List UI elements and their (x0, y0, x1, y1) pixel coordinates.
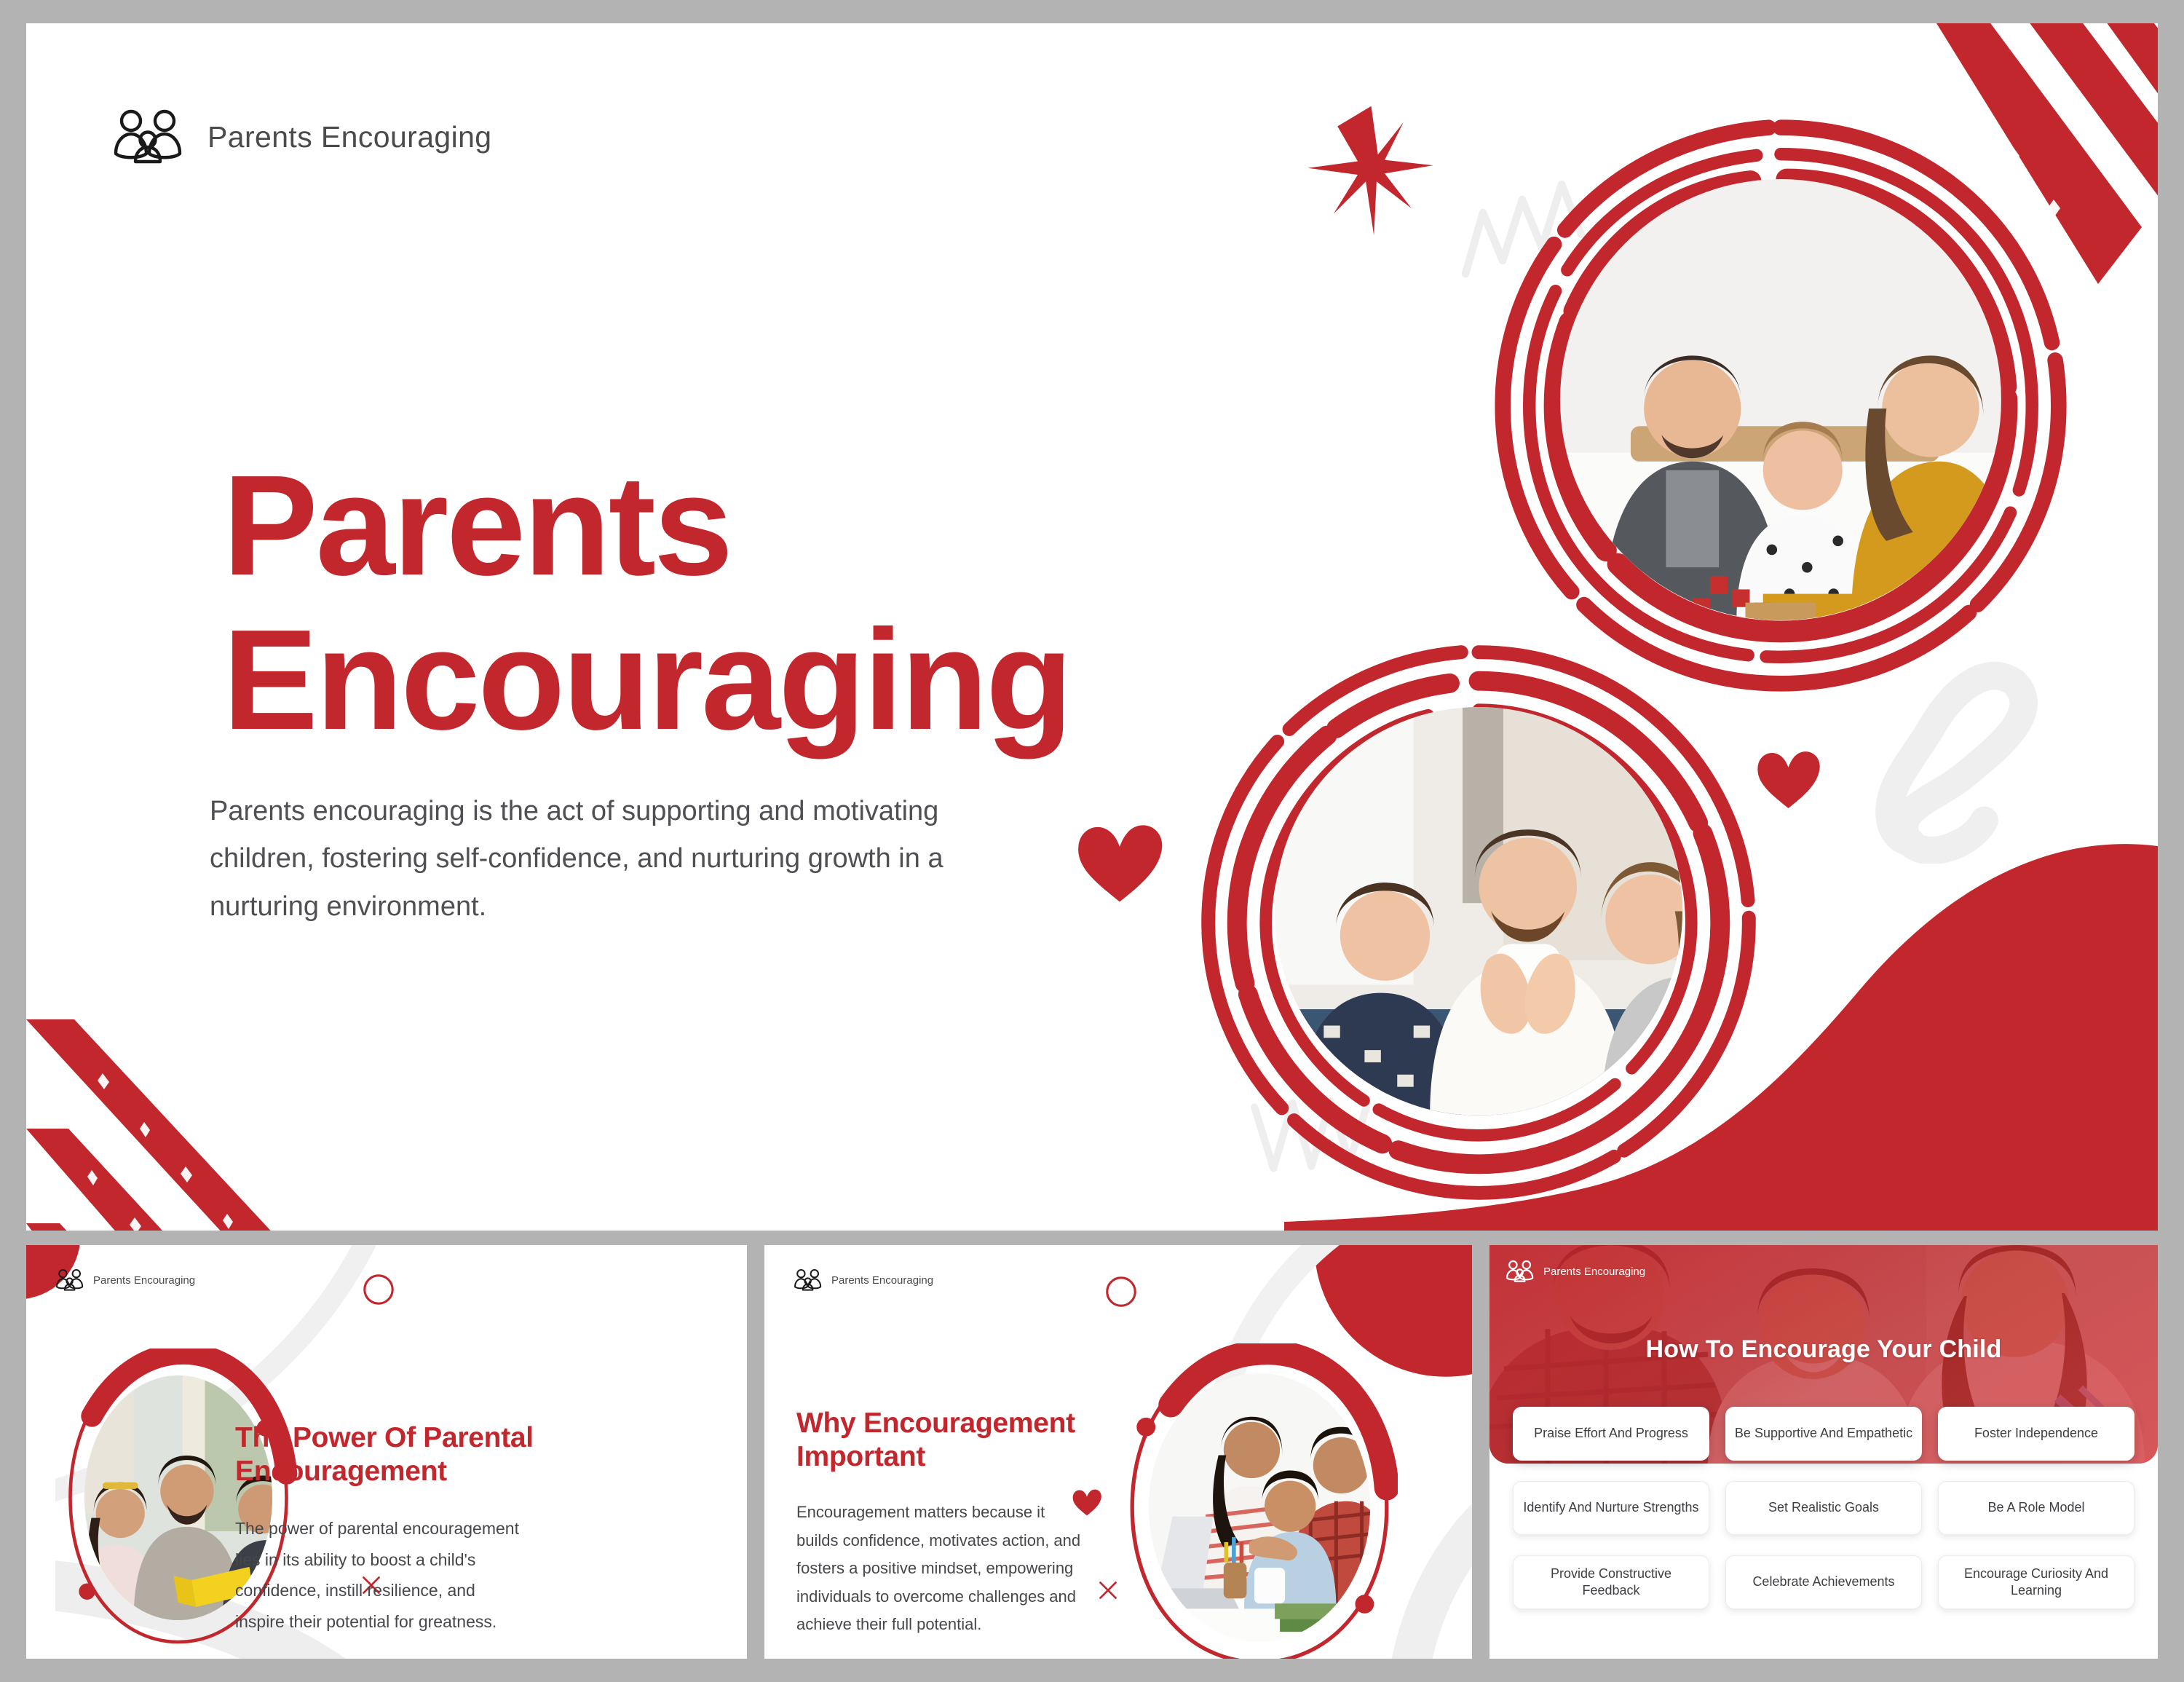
card-praise-effort-and-progress[interactable]: Praise Effort And Progress (1513, 1407, 1709, 1461)
family-group-icon (112, 108, 189, 166)
card-be-supportive-and-empathetic[interactable]: Be Supportive And Empathetic (1725, 1407, 1922, 1461)
photo-family-high-five (1275, 707, 1683, 1116)
page-title: Parents Encouraging (223, 449, 1071, 757)
card-celebrate-achievements[interactable]: Celebrate Achievements (1725, 1555, 1922, 1609)
card-provide-constructive-feedback[interactable]: Provide Constructive Feedback (1513, 1555, 1709, 1609)
photo-family-playing-blocks (1560, 179, 2001, 620)
heart-icon (1069, 813, 1171, 912)
diagonal-stripes-icon (26, 910, 390, 1231)
brand-name: Parents Encouraging (831, 1274, 933, 1287)
family-group-icon (1506, 1260, 1536, 1283)
slide-thumbnail-power-of-parental-encouragement[interactable]: Parents Encouraging (26, 1245, 747, 1659)
brand-lockup[interactable]: Parents Encouraging (1506, 1260, 1645, 1283)
encouragement-cards-grid: Praise Effort And Progress Be Supportive… (1513, 1407, 2134, 1609)
thumb1-title: The Power Of Parental Encouragement (235, 1421, 548, 1488)
thumb3-title: How To Encourage Your Child (1489, 1335, 2158, 1364)
card-be-a-role-model[interactable]: Be A Role Model (1938, 1481, 2134, 1535)
x-mark-icon (1092, 1574, 1124, 1606)
hero-photo-top (1479, 103, 2083, 708)
card-set-realistic-goals[interactable]: Set Realistic Goals (1725, 1481, 1922, 1535)
slide-thumbnail-why-encouragement-important[interactable]: Parents Encouraging (764, 1245, 1472, 1659)
photo-parents-helping-child-with-laptop (1149, 1373, 1370, 1642)
circle-outline-icon (1077, 1248, 1165, 1335)
hero-slide[interactable]: Parents Encouraging Parents Encouraging … (26, 23, 2158, 1231)
family-group-icon (55, 1268, 86, 1292)
hero-photo-bottom (1191, 635, 1766, 1210)
card-encourage-curiosity-and-learning[interactable]: Encourage Curiosity And Learning (1938, 1555, 2134, 1609)
card-identify-and-nurture-strengths[interactable]: Identify And Nurture Strengths (1513, 1481, 1709, 1535)
circle-outline-icon (335, 1246, 422, 1333)
brand-lockup[interactable]: Parents Encouraging (55, 1268, 195, 1292)
card-foster-independence[interactable]: Foster Independence (1938, 1407, 2134, 1461)
family-group-icon (794, 1268, 824, 1292)
brand-name: Parents Encouraging (93, 1274, 195, 1287)
thumb1-body: The power of parental encouragement lies… (235, 1513, 526, 1637)
sparkle-star-icon (1304, 103, 1439, 238)
thumb2-photo-frame (1121, 1343, 1398, 1659)
slide-thumbnail-how-to-encourage-your-child[interactable]: Parents Encouraging How To Encourage You… (1489, 1245, 2158, 1659)
brand-name: Parents Encouraging (1543, 1266, 1645, 1278)
brand-lockup[interactable]: Parents Encouraging (794, 1268, 933, 1292)
title-line-1: Parents (223, 449, 1071, 603)
brand-name: Parents Encouraging (207, 120, 492, 154)
thumb2-body: Encouragement matters because it builds … (796, 1499, 1088, 1639)
thumb2-title: Why Encouragement Important (796, 1407, 1102, 1474)
presentation-canvas: Parents Encouraging Parents Encouraging … (0, 0, 2184, 1682)
hero-subtitle: Parents encouraging is the act of suppor… (210, 788, 1025, 931)
title-line-2: Encouraging (223, 603, 1071, 757)
brand-lockup[interactable]: Parents Encouraging (112, 108, 492, 166)
